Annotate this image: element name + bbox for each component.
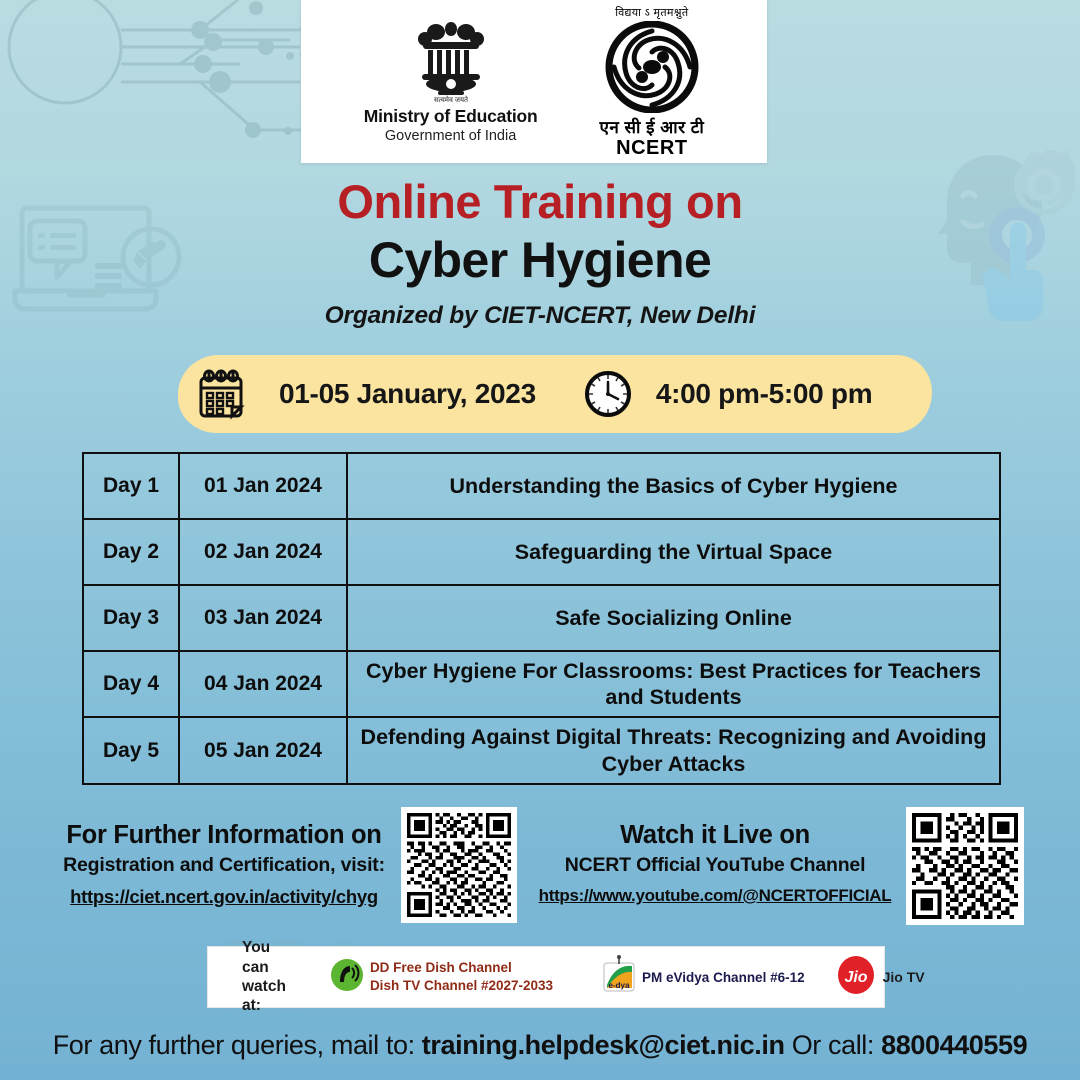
banner-time-text: 4:00 pm-5:00 pm [656,378,872,410]
registration-subheading: Registration and Certification, visit: [50,854,398,877]
registration-link[interactable]: https://ciet.ncert.gov.in/activity/chyg [50,886,398,908]
youtube-link[interactable]: https://www.youtube.com/@NCERTOFFICIAL [535,886,895,906]
date-time-banner: 01-05 January, 2023 4:00 pm-5:00 pm [178,355,932,433]
row-topic: Cyber Hygiene For Classrooms: Best Pract… [347,651,1000,717]
footer-phone[interactable]: 8800440559 [881,1030,1027,1060]
title-block: Online Training on Cyber Hygiene Organiz… [0,176,1080,330]
svg-text:सत्यमेव जयते: सत्यमेव जयते [434,95,469,104]
jio-tv-text: Jio TV [883,969,925,985]
page-title-line2: Cyber Hygiene [0,233,1080,288]
channels-label: You can watch at: [242,938,286,1016]
poster-root: सत्यमेव जयते Ministry of Education Gover… [0,0,1080,1080]
table-row: Day 5 05 Jan 2024 Defending Against Digi… [83,717,1000,783]
schedule-table: Day 1 01 Jan 2024 Understanding the Basi… [82,452,1001,785]
evidya-channel-text: PM eVidya Channel #6-12 [642,970,805,985]
jio-tv-channel: Jio Jio TV [835,955,925,1000]
ncert-emblem-icon [604,21,700,113]
page-title-line1: Online Training on [0,176,1080,229]
row-topic: Defending Against Digital Threats: Recog… [347,717,1000,783]
banner-date-text: 01-05 January, 2023 [279,378,536,410]
qr-right-image [912,813,1018,919]
footer-contact-line: For any further queries, mail to: traini… [0,1030,1080,1061]
row-date: 01 Jan 2024 [179,453,347,519]
broadcast-channels-strip: You can watch at: DD Free Dish Channel D… [207,946,885,1008]
dd-free-dish-icon [330,958,364,997]
row-topic: Understanding the Basics of Cyber Hygien… [347,453,1000,519]
channels-label-line1: You can [242,938,286,977]
ncert-logo: विद्यया ऽ मृतमश्नुते एन सी ई आर टी NCERT [599,5,704,158]
footer-middle: Or call: [785,1030,882,1060]
ministry-caption: Ministry of Education [364,106,538,127]
footer-email[interactable]: training.helpdesk@ciet.nic.in [422,1030,785,1060]
ashoka-emblem-icon: सत्यमेव जयते [408,20,494,104]
ncert-motto: विद्यया ऽ मृतमश्नुते [615,5,688,20]
live-subheading: NCERT Official YouTube Channel [535,854,895,877]
ncert-english-name: NCERT [616,138,687,158]
row-date: 03 Jan 2024 [179,585,347,651]
ministry-subcaption: Government of India [385,128,516,144]
ministry-of-education-logo: सत्यमेव जयते Ministry of Education Gover… [364,20,538,144]
row-date: 04 Jan 2024 [179,651,347,717]
row-topic: Safe Socializing Online [347,585,1000,651]
ncert-hindi-name: एन सी ई आर टी [599,115,704,138]
dd-line2: Dish TV Channel #2027-2033 [370,977,553,995]
svg-text:Jio: Jio [844,969,867,986]
table-row: Day 3 03 Jan 2024 Safe Socializing Onlin… [83,585,1000,651]
organizer-text: Organized by CIET-NCERT, New Delhi [0,302,1080,330]
live-stream-info-block: Watch it Live on NCERT Official YouTube … [535,820,895,906]
row-day: Day 3 [83,585,179,651]
row-day: Day 4 [83,651,179,717]
youtube-qr-code[interactable] [906,807,1024,925]
evidya-logo-icon: e-dya [601,955,637,1000]
row-day: Day 2 [83,519,179,585]
clock-icon [584,370,632,418]
qr-left-image [407,813,511,917]
row-topic: Safeguarding the Virtual Space [347,519,1000,585]
pm-evidya-channel: e-dya PM eVidya Channel #6-12 [601,955,805,1000]
jio-logo-icon: Jio [835,955,877,1000]
table-row: Day 1 01 Jan 2024 Understanding the Basi… [83,453,1000,519]
row-day: Day 1 [83,453,179,519]
table-row: Day 4 04 Jan 2024 Cyber Hygiene For Clas… [83,651,1000,717]
channels-label-line2: watch at: [242,977,286,1016]
svg-text:e-dya: e-dya [609,981,630,990]
dd-channel-text: DD Free Dish Channel Dish TV Channel #20… [370,959,553,995]
calendar-icon [196,368,246,420]
dd-free-dish-channel: DD Free Dish Channel Dish TV Channel #20… [330,958,553,997]
header-logo-strip: सत्यमेव जयते Ministry of Education Gover… [301,0,767,163]
row-day: Day 5 [83,717,179,783]
registration-info-block: For Further Information on Registration … [50,820,398,908]
registration-heading: For Further Information on [50,820,398,850]
registration-qr-code[interactable] [401,807,517,923]
table-row: Day 2 02 Jan 2024 Safeguarding the Virtu… [83,519,1000,585]
row-date: 02 Jan 2024 [179,519,347,585]
row-date: 05 Jan 2024 [179,717,347,783]
live-heading: Watch it Live on [535,820,895,850]
dd-line1: DD Free Dish Channel [370,959,553,977]
footer-prefix: For any further queries, mail to: [53,1030,422,1060]
